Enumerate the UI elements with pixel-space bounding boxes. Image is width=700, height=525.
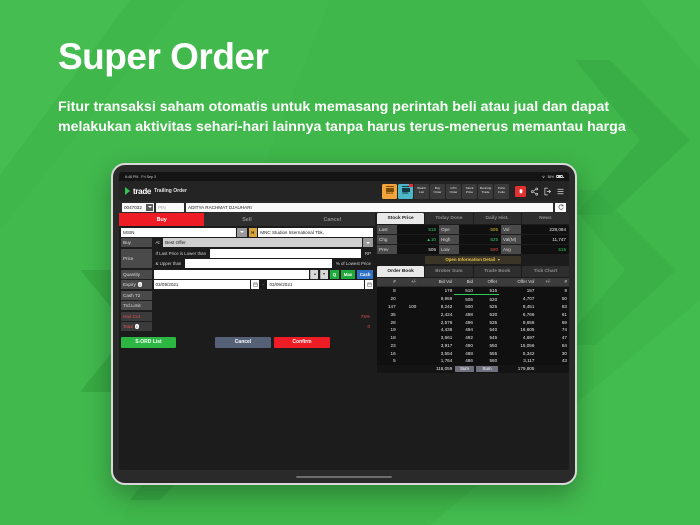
tab-stock-price[interactable]: Stock Price [377, 213, 424, 224]
tab-buy[interactable]: Buy [119, 213, 204, 226]
account-id-value: 0047032 [124, 205, 142, 210]
quote-high: High 525 [439, 235, 501, 244]
stock-code-dropdown-icon[interactable] [237, 228, 247, 237]
cell-num-left: 16 [377, 349, 398, 357]
lower-price-input[interactable] [210, 249, 362, 258]
max-qty-button[interactable]: Max [341, 270, 355, 279]
table-row[interactable]: 163,5544885555,34230 [377, 349, 569, 357]
sum-bid-chip-label: Sum [455, 366, 474, 372]
table-row[interactable]: 209,9595055204,70750 [377, 295, 569, 303]
chevron-down-icon: ▼ [497, 258, 501, 262]
quote-key: Vol [501, 225, 521, 234]
trd-limit-row: Trd.Limit [121, 301, 373, 310]
lower-than-label: If Last Price is Lower than [154, 249, 209, 258]
table-row[interactable]: 51,7644865603,11743 [377, 357, 569, 365]
quote-key: Ope [439, 225, 459, 234]
hair-cut-value: 75% [361, 312, 373, 321]
account-name-value: ADITYA RACHMAT DJAUHARI [188, 205, 252, 210]
cell-offer: 540 [475, 326, 499, 334]
cell-bid: 494 [454, 326, 475, 334]
open-information-detail-button[interactable]: Open Information Detail ▼ [425, 256, 521, 264]
quantity-down-button[interactable] [320, 270, 328, 279]
quote-value: 11,747 [521, 235, 569, 244]
nav-tile-stock-price[interactable]: Stock Price [462, 184, 477, 199]
col-offer-vol: Offer Vol [499, 278, 536, 287]
sum-offer-chip-label: Sum [476, 366, 498, 372]
cell-num-right: 74 [553, 326, 569, 334]
cell-bid-vol: 4,436 [418, 326, 454, 334]
cell-num-right: 50 [553, 295, 569, 303]
cell-chg-left [398, 318, 419, 326]
cell-chg-right [536, 326, 552, 334]
tablet-device-frame: 6:48 PM Fri Sep 3 56% trade Trailing Ord… [111, 163, 577, 485]
total-label-text: Total [123, 324, 133, 329]
tab-daily-hist[interactable]: Daily Hist. [474, 213, 521, 224]
status-date: Fri Sep 3 [141, 175, 156, 179]
cell-offer: 545 [475, 334, 499, 342]
cell-offer: 525 [475, 303, 499, 311]
menu-icon[interactable] [556, 187, 565, 196]
at-dropdown-icon[interactable] [363, 238, 373, 247]
cell-offer-vol: 4,707 [499, 295, 536, 303]
order-form: MSIN H MNC Studios International Tbk. Bu… [119, 226, 375, 331]
cell-num-left: 147 [377, 303, 398, 311]
order-side-tabs: Buy Sell Cancel [119, 213, 375, 226]
quote-vol: Vol 228,084 [501, 225, 569, 234]
pin-input[interactable]: PIN [156, 203, 184, 212]
quote-key: Prev [377, 245, 397, 254]
quote-low: Low 500 [439, 245, 501, 254]
upper-price-input[interactable] [185, 259, 332, 268]
cell-bid: 496 [454, 318, 475, 326]
cell-bid: 490 [454, 342, 475, 350]
nav-tile-label-line2: Trade [482, 191, 490, 195]
quote-value: 515 [521, 245, 569, 254]
cell-num-left: 35 [377, 311, 398, 319]
cell-offer-vol: 6,766 [499, 311, 536, 319]
col-chg-left: +/- [398, 278, 419, 287]
cell-chg-right [536, 357, 552, 365]
cell-bid-vol: 3,554 [418, 349, 454, 357]
cell-chg-left [398, 295, 419, 303]
cell-num-left: 19 [377, 326, 398, 334]
cell-chg-left [398, 286, 419, 295]
cell-bid: 500 [454, 303, 475, 311]
quote-value: 228,084 [521, 225, 569, 234]
quote-last: Last 515 [377, 225, 439, 234]
cell-chg-left [398, 349, 419, 357]
quantity-row: Quantity Q Max Cash [121, 270, 373, 279]
cell-chg-right [536, 286, 552, 295]
total-info-icon[interactable]: i [135, 324, 140, 329]
cell-bid: 505 [454, 295, 475, 303]
expiry-info-icon[interactable]: i [138, 282, 143, 287]
cell-bid: 492 [454, 334, 475, 342]
cell-bid: 486 [454, 357, 475, 365]
tab-news[interactable]: News [522, 213, 569, 224]
cell-offer-vol: 5,342 [499, 349, 536, 357]
play-triangle-icon [125, 187, 130, 195]
expiry-to-input[interactable]: 03/09/2021 [267, 280, 363, 289]
stock-code-input[interactable]: MSIN [121, 228, 236, 237]
tab-sell[interactable]: Sell [204, 213, 289, 226]
cell-num-right: 61 [553, 311, 569, 319]
battery-icon [556, 175, 563, 179]
battery-percent: 56% [548, 175, 554, 179]
status-time: 6:48 PM [125, 175, 138, 179]
quote-key: Low [439, 245, 459, 254]
quantity-up-button[interactable] [310, 270, 318, 279]
nav-tile-label: Stock [386, 193, 393, 196]
pct-lowest-label: % of Lowest Price [334, 259, 373, 268]
quote-chg: Chg ▲10 [377, 235, 439, 244]
sum-blank-4 [553, 365, 569, 373]
market-data-panel: Stock Price Today Done Daily Hist. News … [375, 213, 569, 470]
cell-num-right: 83 [553, 303, 569, 311]
cell-offer-vol: 4,697 [499, 334, 536, 342]
quote-key: High [439, 235, 459, 244]
cell-chg-left [398, 357, 419, 365]
cell-num-right: 69 [553, 318, 569, 326]
calendar-glyph [367, 282, 372, 287]
calendar-to-icon[interactable] [365, 280, 373, 289]
total-label: Total i [121, 322, 152, 331]
sum-offer-chip[interactable]: Sum [475, 365, 499, 373]
h-flag-chip[interactable]: H [249, 228, 257, 237]
stock-name-field: MNC Studios International Tbk. [258, 228, 373, 237]
cell-num-right: 9 [553, 286, 569, 295]
cell-offer-vol: 8,451 [499, 303, 536, 311]
cell-num-right: 84 [553, 342, 569, 350]
trd-limit-value [370, 301, 373, 310]
price-tabs: Stock Price Today Done Daily Hist. News [377, 213, 569, 224]
nav-tile-buy-order[interactable]: Buy Order [430, 184, 445, 199]
nav-tile-stock-card[interactable]: Stock [382, 184, 397, 199]
header-nav-tiles: Stock MNC Watch List Buy Order GTC O [382, 184, 565, 199]
col-chg-right: +/- [536, 278, 552, 287]
sum-blank-3 [536, 365, 552, 373]
page-subtitle: Fitur transaksi saham otomatis untuk mem… [58, 97, 628, 137]
quote-grid: Last 515 Chg ▲10 Prev 505 [377, 225, 569, 254]
expiry-from-input[interactable]: 03/09/2021 [154, 280, 250, 289]
order-entry-panel: Buy Sell Cancel MSIN H MNC Studios Inter… [119, 213, 375, 470]
cell-chg-left [398, 326, 419, 334]
tab-tick-chart[interactable]: Tick Chart [522, 266, 569, 277]
refresh-icon[interactable] [555, 203, 566, 212]
calendar-glyph [253, 282, 258, 287]
expiry-label: Expiry i [121, 280, 152, 289]
app-header: trade Trailing Order Stock MNC Watch Lis… [119, 181, 569, 201]
cell-offer-vol: 15,056 [499, 342, 536, 350]
cell-bid-vol: 9,959 [418, 295, 454, 303]
upper-than-label: & Upper than [154, 259, 184, 268]
sum-offer-vol-total: 179,805 [499, 365, 536, 373]
refresh-glyph [558, 204, 564, 210]
cell-chg-right [536, 318, 552, 326]
table-row[interactable]: 81795105151579 [377, 286, 569, 295]
cell-bid: 510 [454, 286, 475, 295]
quick-qty-button[interactable]: Q [330, 270, 338, 279]
stock-row: MSIN H MNC Studios International Tbk. [121, 228, 373, 237]
page-title: Super Order [58, 38, 638, 77]
cell-bid: 498 [454, 311, 475, 319]
nav-tile-label: MNC [403, 193, 409, 196]
cell-offer-vol: 9,658 [499, 318, 536, 326]
nav-tile-label-line2: List [419, 191, 424, 195]
cell-num-right: 47 [553, 334, 569, 342]
cell-num-right: 43 [553, 357, 569, 365]
ios-status-bar: 6:48 PM Fri Sep 3 56% [119, 172, 569, 181]
at-select[interactable]: Best Offer [163, 238, 361, 247]
cell-chg-left: 100 [398, 303, 419, 311]
order-book-tabs: Order Book Broker Sum Trade Book Tick Ch… [377, 266, 569, 277]
expiry-row: Expiry i 03/09/2021 - 03/09/2021 [121, 280, 373, 289]
chevron-down-icon [146, 204, 153, 211]
trd-limit-label: Trd.Limit [121, 301, 152, 310]
cell-num-left: 18 [377, 334, 398, 342]
table-row[interactable]: 183,6614925454,69747 [377, 334, 569, 342]
cell-num-right: 30 [553, 349, 569, 357]
trash-glyph [518, 188, 524, 194]
at-label: At [154, 238, 162, 247]
price-label: Price [121, 249, 152, 269]
at-row: Buy At Best Offer [121, 238, 373, 247]
sum-blank-2 [398, 365, 419, 373]
order-book-header-row: # +/- Bid Vol Bid Offer Offer Vol +/- # [377, 278, 569, 287]
cell-bid-vol: 1,764 [418, 357, 454, 365]
cell-chg-right [536, 295, 552, 303]
cell-offer-vol: 3,117 [499, 357, 536, 365]
cell-chg-left [398, 334, 419, 342]
cell-chg-right [536, 303, 552, 311]
quantity-input[interactable] [154, 270, 309, 279]
tab-cancel[interactable]: Cancel [290, 213, 375, 226]
cell-num-left: 28 [377, 318, 398, 326]
cell-chg-right [536, 342, 552, 350]
order-book-table: # +/- Bid Vol Bid Offer Offer Vol +/- # … [377, 278, 569, 373]
quote-value: 505 [459, 225, 501, 234]
wifi-icon [541, 175, 546, 179]
quote-value: 500 [459, 245, 501, 254]
table-row[interactable]: 194,43649454016,60574 [377, 326, 569, 334]
quote-key: Avg [501, 245, 521, 254]
main-content: Buy Sell Cancel MSIN H MNC Studios Inter… [119, 213, 569, 470]
quote-value: ▲10 [397, 235, 439, 244]
quantity-label: Quantity [121, 270, 152, 279]
cell-bid-vol: 2,576 [418, 318, 454, 326]
cell-num-left: 20 [377, 295, 398, 303]
quote-key: Last [377, 225, 397, 234]
cell-offer: 560 [475, 357, 499, 365]
poster-headline: Super Order Fitur transaksi saham otomat… [58, 38, 638, 137]
side-label: Buy [121, 238, 152, 247]
cell-chg-right [536, 311, 552, 319]
cell-chg-left [398, 311, 419, 319]
hair-cut-label: Hair Cut [121, 312, 152, 321]
cell-offer: 550 [475, 342, 499, 350]
sum-bid-chip[interactable]: Sum [454, 365, 475, 373]
cell-offer: 555 [475, 349, 499, 357]
total-value: 0 [367, 322, 373, 331]
confirm-button[interactable]: Confirm [274, 337, 330, 348]
cash-t2-label: Cash T2 [121, 291, 152, 300]
sum-bid-vol-total: 116,059 [418, 365, 454, 373]
home-indicator [296, 476, 392, 478]
quote-avg: Avg 515 [501, 245, 569, 254]
col-num-left: # [377, 278, 398, 287]
nav-tile-label-line2: Order [450, 191, 458, 195]
col-offer: Offer [475, 278, 499, 287]
quote-open: Ope 505 [439, 225, 501, 234]
col-num-right: # [553, 278, 569, 287]
table-row[interactable]: 282,5764965359,65869 [377, 318, 569, 326]
cell-num-left: 5 [377, 357, 398, 365]
rp-label: RP [363, 249, 373, 258]
cell-chg-right [536, 349, 552, 357]
quote-value: 505 [397, 245, 439, 254]
cell-offer-vol: 16,605 [499, 326, 536, 334]
cell-offer: 530 [475, 311, 499, 319]
cell-num-left: 23 [377, 342, 398, 350]
table-row[interactable]: 352,4244985306,76661 [377, 311, 569, 319]
hair-cut-row: Hair Cut 75% [121, 312, 373, 321]
pin-placeholder: PIN [158, 205, 166, 210]
cash-button[interactable]: Cash [357, 270, 373, 279]
account-id-select[interactable]: 0047032 [122, 203, 154, 212]
quote-value: 525 [459, 235, 501, 244]
tab-order-book[interactable]: Order Book [377, 266, 424, 277]
quote-prev: Prev 505 [377, 245, 439, 254]
logout-icon[interactable] [543, 187, 552, 196]
notification-badge [409, 184, 413, 187]
nav-tile-label-line2: Folio [498, 191, 505, 195]
nav-tile-label-line2: Order [434, 191, 442, 195]
cell-bid-vol: 2,424 [418, 311, 454, 319]
screen-title: Trailing Order [154, 188, 187, 194]
expiry-label-text: Expiry [123, 282, 136, 287]
account-name-field: ADITYA RACHMAT DJAUHARI [186, 203, 553, 212]
sord-list-button[interactable]: S-ORD List [121, 337, 176, 348]
info-detail-label: Open Information Detail [445, 257, 495, 262]
quote-key: Val(M) [501, 235, 521, 244]
cell-offer-vol: 157 [499, 286, 536, 295]
cell-offer: 520 [475, 295, 499, 303]
cash-t2-row: Cash T2 [121, 291, 373, 300]
tablet-screen: 6:48 PM Fri Sep 3 56% trade Trailing Ord… [119, 172, 569, 470]
calendar-from-icon[interactable] [251, 280, 259, 289]
order-book-summary-row: 116,059SumSum179,805 [377, 365, 569, 373]
cell-chg-left [398, 342, 419, 350]
trash-icon[interactable] [515, 186, 526, 197]
date-separator: - [261, 280, 266, 289]
cell-chg-right [536, 334, 552, 342]
nav-tile-portfolio[interactable]: Porto Folio [494, 184, 509, 199]
cash-t2-value [370, 291, 373, 300]
cell-num-left: 8 [377, 286, 398, 295]
app-logo: trade [125, 187, 151, 196]
nav-tile-label-line2: Price [466, 191, 473, 195]
nav-tile-watch-list[interactable]: Watch List [414, 184, 429, 199]
table-row[interactable]: 233,91749055015,05684 [377, 342, 569, 350]
cell-offer: 515 [475, 286, 499, 295]
share-icon[interactable] [530, 187, 539, 196]
account-bar: 0047032 PIN ADITYA RACHMAT DJAUHARI [119, 201, 569, 213]
cell-offer: 535 [475, 318, 499, 326]
nav-tile-gtc-order[interactable]: GTC Order [446, 184, 461, 199]
cell-bid-vol: 8,242 [418, 303, 454, 311]
price-block: Price If Last Price is Lower than RP & U… [121, 249, 373, 269]
cell-bid-vol: 3,917 [418, 342, 454, 350]
nav-tile-running-trade[interactable]: Running Trade [478, 184, 493, 199]
cell-bid-vol: 3,661 [418, 334, 454, 342]
sum-blank-1 [377, 365, 398, 373]
tab-today-done[interactable]: Today Done [425, 213, 472, 224]
logo-text: trade [133, 187, 151, 196]
cancel-button[interactable]: Cancel [215, 337, 271, 348]
cell-bid-vol: 179 [418, 286, 454, 295]
col-bid: Bid [454, 278, 475, 287]
cell-bid: 488 [454, 349, 475, 357]
tab-trade-book[interactable]: Trade Book [474, 266, 521, 277]
nav-tile-mnc-sekuritas[interactable]: MNC [398, 184, 413, 199]
quote-value: 515 [397, 225, 439, 234]
quote-key: Chg [377, 235, 397, 244]
col-bid-vol: Bid Vol [418, 278, 454, 287]
table-row[interactable]: 1471008,2425005258,45183 [377, 303, 569, 311]
total-row: Total i 0 [121, 322, 373, 331]
action-buttons: S-ORD List Cancel Confirm [119, 333, 375, 348]
tab-broker-sum[interactable]: Broker Sum [425, 266, 472, 277]
quote-val: Val(M) 11,747 [501, 235, 569, 244]
order-book-body: 81795105151579209,9595055204,70750147100… [377, 286, 569, 373]
